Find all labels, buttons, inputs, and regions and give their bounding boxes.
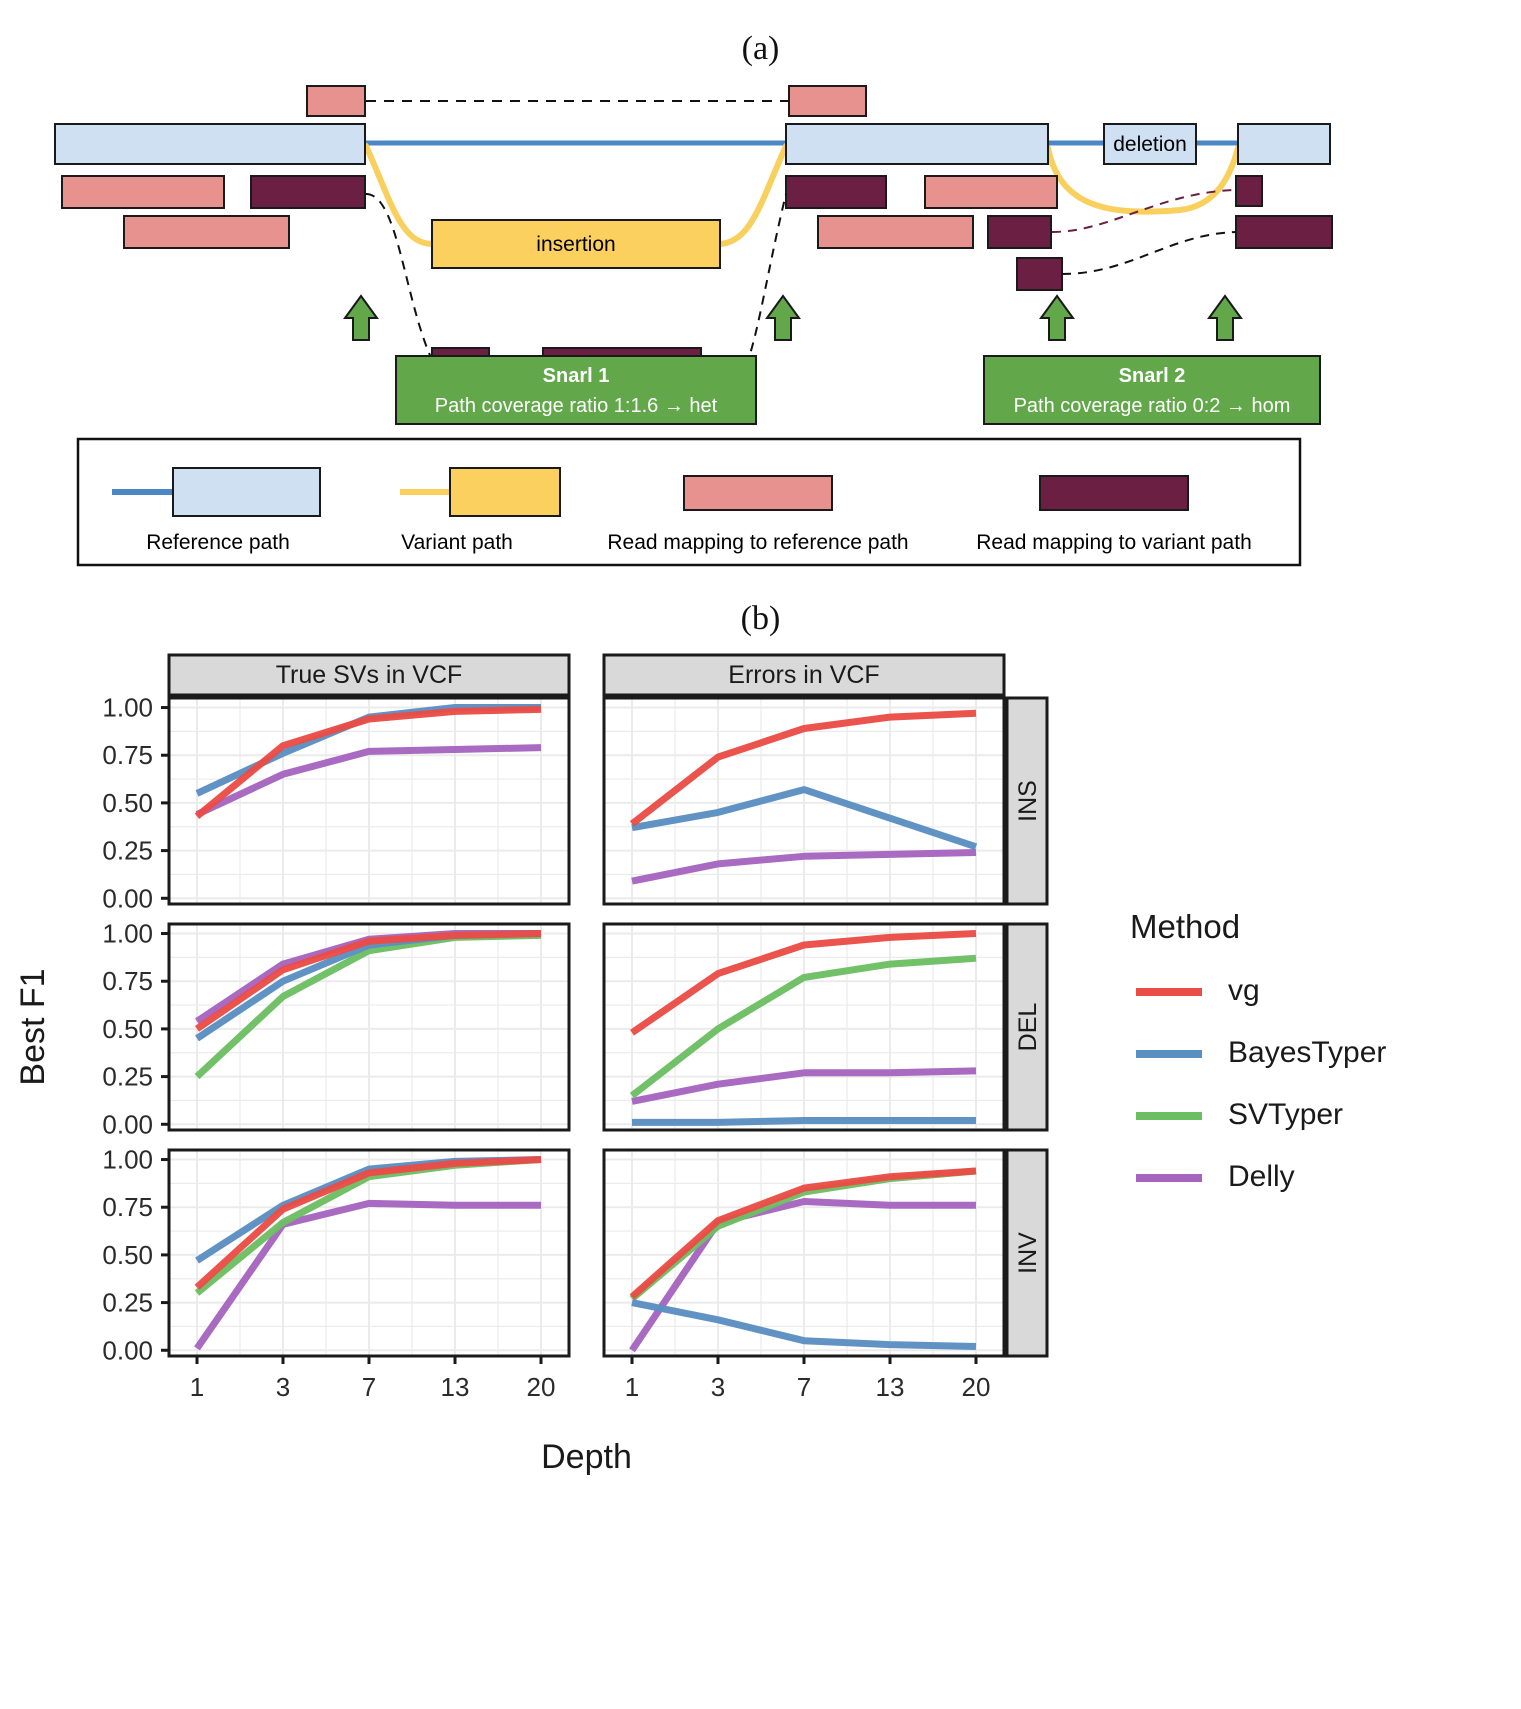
panel-a: (a) deletion insertion xyxy=(0,0,1521,600)
read-var-9 xyxy=(1236,176,1262,206)
read-ref-2 xyxy=(124,216,289,248)
y-tick-label: 0.75 xyxy=(102,740,153,770)
read-ref-4 xyxy=(818,216,973,248)
variant-edge-ins-left xyxy=(366,146,432,244)
snarl-2-title: Snarl 2 xyxy=(1119,365,1186,387)
facet-panel-del-true-svs xyxy=(169,924,569,1130)
y-tick-label: 0.50 xyxy=(102,1014,153,1044)
read-var-10 xyxy=(1236,216,1332,248)
y-tick-label: 0.75 xyxy=(102,966,153,996)
panel-a-letter: (a) xyxy=(0,0,1521,68)
col-strip-0: True SVs in VCF xyxy=(169,655,569,695)
read-ref-top-right xyxy=(789,86,866,116)
series-line-bayestyper xyxy=(632,1121,976,1123)
facet-panel-inv-errors xyxy=(604,1150,1004,1356)
panel-b: (b) True SVs in VCF0.000.250.500.751.00E… xyxy=(0,600,1521,1650)
legend-read-variant-icon xyxy=(1040,476,1188,510)
y-tick-label: 0.25 xyxy=(102,1288,153,1318)
method-legend-label-svtyper: SVTyper xyxy=(1228,1098,1343,1131)
method-legend-label-vg: vg xyxy=(1228,974,1260,1007)
diagram-legend: Reference path Variant path Read mapping… xyxy=(78,439,1300,565)
col-strip-label: True SVs in VCF xyxy=(276,661,463,689)
snarl-1-subtitle: Path coverage ratio 1:1.6 → het xyxy=(435,395,718,417)
y-tick-label: 1.00 xyxy=(102,693,153,723)
read-ref-1 xyxy=(62,176,224,208)
col-strip-label: Errors in VCF xyxy=(728,661,879,689)
snarl-arrow-1 xyxy=(345,296,377,340)
y-tick-label: 1.00 xyxy=(102,919,153,949)
x-tick-label: 20 xyxy=(962,1372,991,1402)
y-tick-label: 0.00 xyxy=(102,883,153,913)
read-ref-top-left xyxy=(307,86,365,116)
x-axis-1: 1371320 xyxy=(625,1356,991,1402)
x-tick-label: 13 xyxy=(441,1372,470,1402)
y-tick-label: 0.50 xyxy=(102,1240,153,1270)
facet-panel-inv-true-svs xyxy=(169,1150,569,1356)
row-strip-inv: INV xyxy=(1007,1150,1047,1356)
facet-panel-ins-errors xyxy=(604,698,1004,904)
snarl-arrows xyxy=(345,296,1241,340)
read-var-8 xyxy=(1017,258,1062,290)
legend-label-read-reference: Read mapping to reference path xyxy=(607,531,908,554)
y-tick-label: 0.75 xyxy=(102,1192,153,1222)
reference-node-3 xyxy=(1238,124,1330,164)
y-tick-label: 0.00 xyxy=(102,1335,153,1365)
snarl-arrow-3 xyxy=(1041,296,1073,340)
x-axis-title: Depth xyxy=(541,1438,632,1476)
row-strip-label: INV xyxy=(1014,1232,1042,1274)
x-tick-label: 3 xyxy=(276,1372,290,1402)
x-axis-0: 1371320 xyxy=(190,1356,556,1402)
legend-reference-node-icon xyxy=(173,468,320,516)
method-legend-label-bayestyper: BayesTyper xyxy=(1228,1036,1386,1069)
deletion-node-label: deletion xyxy=(1113,133,1187,156)
legend-label-variant-path: Variant path xyxy=(401,531,513,554)
y-tick-label: 1.00 xyxy=(102,1145,153,1175)
row-strip-ins: INS xyxy=(1007,698,1047,904)
row-strip-label: DEL xyxy=(1014,1003,1042,1052)
reference-node-1 xyxy=(55,124,365,164)
row-strip-del: DEL xyxy=(1007,924,1047,1130)
snarl-arrow-4 xyxy=(1209,296,1241,340)
method-legend: MethodvgBayesTyperSVTyperDelly xyxy=(1130,908,1386,1193)
reference-node-2 xyxy=(786,124,1048,164)
read-var-7 xyxy=(988,216,1051,248)
read-var-1 xyxy=(251,176,365,208)
y-axis-1: 0.000.250.500.751.00 xyxy=(102,919,169,1140)
facet-line-chart: True SVs in VCF0.000.250.500.751.00Error… xyxy=(0,638,1521,1628)
snarl-box-1-group: Snarl 1 Path coverage ratio 1:1.6 → het xyxy=(396,356,756,424)
x-tick-label: 13 xyxy=(876,1372,905,1402)
panel-b-letter: (b) xyxy=(0,600,1521,638)
read-ref-3 xyxy=(925,176,1057,208)
y-tick-label: 0.50 xyxy=(102,788,153,818)
method-legend-title: Method xyxy=(1130,908,1240,945)
facet-panel-del-errors xyxy=(604,924,1004,1130)
insertion-node-label: insertion xyxy=(536,233,615,256)
facet-panel-ins-true-svs xyxy=(169,698,569,904)
legend-label-reference-path: Reference path xyxy=(146,531,290,554)
x-tick-label: 7 xyxy=(362,1372,376,1402)
variant-node-insertion-group: insertion xyxy=(432,220,720,268)
graph-diagram: deletion insertion xyxy=(0,68,1521,608)
x-tick-label: 1 xyxy=(625,1372,639,1402)
legend-read-reference-icon xyxy=(684,476,832,510)
variant-edge-ins-right xyxy=(718,146,786,244)
y-axis-title: Best F1 xyxy=(14,968,52,1085)
x-tick-label: 3 xyxy=(711,1372,725,1402)
y-tick-label: 0.25 xyxy=(102,836,153,866)
x-tick-label: 20 xyxy=(527,1372,556,1402)
y-axis-2: 0.000.250.500.751.00 xyxy=(102,1145,169,1366)
row-strip-label: INS xyxy=(1014,780,1042,822)
snarl-1-title: Snarl 1 xyxy=(543,365,610,387)
snarl-box-2-group: Snarl 2 Path coverage ratio 0:2 → hom xyxy=(984,356,1320,424)
col-strip-1: Errors in VCF xyxy=(604,655,1004,695)
y-tick-label: 0.00 xyxy=(102,1109,153,1139)
snarl-arrow-2 xyxy=(767,296,799,340)
x-tick-label: 7 xyxy=(797,1372,811,1402)
snarl-2-subtitle: Path coverage ratio 0:2 → hom xyxy=(1014,395,1291,417)
read-pair-link-var-4 xyxy=(1062,232,1236,274)
legend-label-read-variant: Read mapping to variant path xyxy=(976,531,1252,554)
y-tick-label: 0.25 xyxy=(102,1062,153,1092)
x-tick-label: 1 xyxy=(190,1372,204,1402)
y-axis-0: 0.000.250.500.751.00 xyxy=(102,693,169,914)
read-var-6 xyxy=(786,176,886,208)
legend-variant-node-icon xyxy=(450,468,560,516)
method-legend-label-delly: Delly xyxy=(1228,1160,1295,1193)
